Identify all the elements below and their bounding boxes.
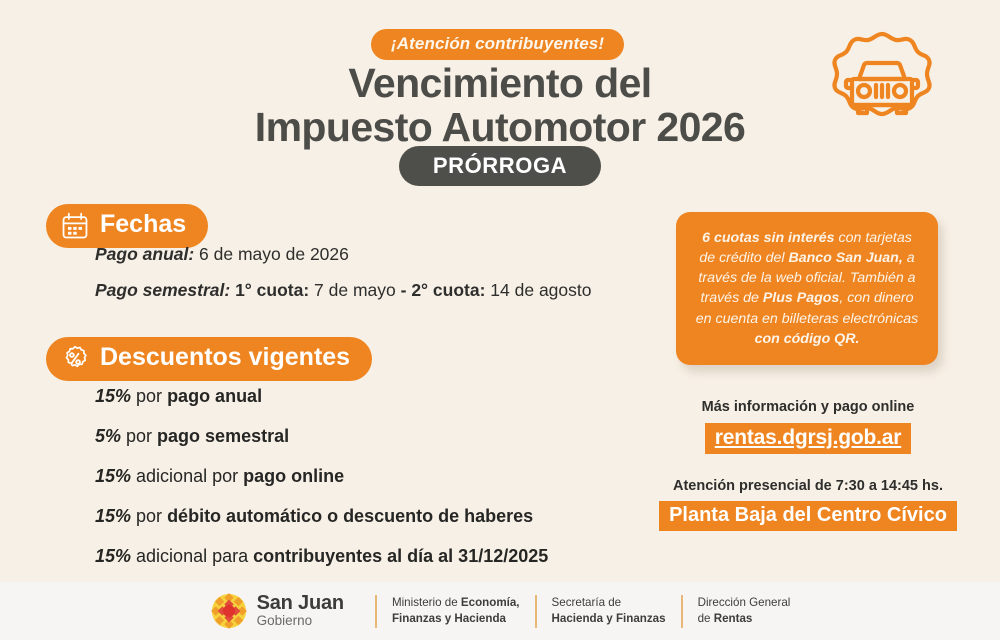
- cuota2-label: 2° cuota:: [411, 280, 485, 300]
- footer-bar: San Juan Gobierno Ministerio de Economía…: [0, 582, 1000, 640]
- descuento-item: 5% por pago semestral: [95, 427, 695, 445]
- descuento-percent: 15%: [95, 466, 131, 486]
- descuento-mid: adicional para: [131, 546, 253, 566]
- descuento-bold: pago semestral: [157, 426, 289, 446]
- descuento-mid: por: [131, 506, 167, 526]
- fecha-row-semestral: Pago semestral: 1° cuota: 7 de mayo - 2°…: [95, 282, 655, 300]
- descuento-percent: 5%: [95, 426, 121, 446]
- descuento-percent: 15%: [95, 546, 131, 566]
- status-badge: PRÓRROGA: [399, 146, 601, 186]
- descuento-bold: pago anual: [167, 386, 262, 406]
- descuento-bold: contribuyentes al día al 31/12/2025: [253, 546, 548, 566]
- calendar-icon: [60, 211, 90, 241]
- contact-block: Más información y pago online rentas.dgr…: [658, 400, 958, 531]
- car-front-badge-icon: [812, 22, 952, 162]
- payment-info-card: 6 cuotas sin interés con tarjetas de cré…: [676, 212, 938, 365]
- descuento-mid: adicional por: [131, 466, 243, 486]
- footer-item-line2-normal: de: [698, 612, 714, 625]
- info-qr-bold: con código QR.: [755, 331, 860, 347]
- footer-item-secretaria: Secretaría de Hacienda y Finanzas: [552, 595, 666, 627]
- fecha-anual-value: 6 de mayo de 2026: [194, 244, 349, 264]
- footer-divider: [375, 595, 377, 628]
- cuota-separator: -: [401, 280, 412, 300]
- info-cuotas-bold: 6 cuotas sin interés: [702, 230, 834, 246]
- descuento-item: 15% adicional para contribuyentes al día…: [95, 547, 695, 565]
- info-pluspagos-bold: Plus Pagos: [763, 290, 839, 306]
- footer-item-line2-bold: Rentas: [714, 612, 753, 625]
- section-pill-fechas: Fechas: [46, 204, 208, 248]
- descuento-item: 15% por pago anual: [95, 387, 695, 405]
- office-location-chip: Planta Baja del Centro Cívico: [659, 501, 957, 531]
- section-label-fechas: Fechas: [100, 212, 186, 240]
- descuento-percent: 15%: [95, 386, 131, 406]
- footer-item-line2-bold: Hacienda y Finanzas: [552, 612, 666, 625]
- footer-brand-line1: San Juan: [257, 593, 344, 614]
- footer-item-line1-normal: Secretaría de: [552, 596, 622, 609]
- section-pill-descuentos: Descuentos vigentes: [46, 337, 372, 381]
- rentas-website-link[interactable]: rentas.dgrsj.gob.ar: [705, 423, 911, 454]
- footer-divider: [535, 595, 537, 628]
- descuento-bold: débito automático o descuento de haberes: [167, 506, 533, 526]
- footer-item-line1-normal: Dirección General: [698, 596, 791, 609]
- footer-item-ministerio: Ministerio de Economía, Finanzas y Hacie…: [392, 595, 520, 627]
- hours-caption: Atención presencial de 7:30 a 14:45 hs.: [658, 479, 958, 494]
- percent-badge-icon: [60, 344, 90, 374]
- online-caption: Más información y pago online: [658, 400, 958, 415]
- descuento-percent: 15%: [95, 506, 131, 526]
- cuota1-label: 1° cuota:: [230, 280, 309, 300]
- descuentos-list: 15% por pago anual 5% por pago semestral…: [95, 387, 695, 587]
- footer-brand-line2: Gobierno: [257, 614, 344, 628]
- fecha-semestral-label: Pago semestral:: [95, 280, 230, 300]
- info-banco-bold: Banco San Juan,: [788, 250, 902, 266]
- cuota1-value: 7 de mayo: [309, 280, 400, 300]
- footer-divider: [681, 595, 683, 628]
- descuento-bold: pago online: [243, 466, 344, 486]
- footer-brand: San Juan Gobierno: [257, 593, 344, 628]
- fecha-anual-label: Pago anual:: [95, 244, 194, 264]
- section-label-descuentos: Descuentos vigentes: [100, 345, 350, 373]
- infographic-root: ¡Atención contribuyentes! Vencimiento de…: [0, 0, 1000, 640]
- san-juan-sun-logo-icon: [210, 592, 248, 630]
- attention-pill: ¡Atención contribuyentes!: [371, 29, 624, 60]
- descuento-item: 15% por débito automático o descuento de…: [95, 507, 695, 525]
- footer-item-line1-bold: Economía,: [461, 596, 520, 609]
- fechas-list: Pago anual: 6 de mayo de 2026 Pago semes…: [95, 246, 655, 317]
- footer-item-line2-bold: Finanzas y Hacienda: [392, 612, 506, 625]
- descuento-mid: por: [121, 426, 157, 446]
- footer-item-line1-normal: Ministerio de: [392, 596, 461, 609]
- fecha-row-anual: Pago anual: 6 de mayo de 2026: [95, 246, 655, 264]
- descuento-mid: por: [131, 386, 167, 406]
- descuento-item: 15% adicional por pago online: [95, 467, 695, 485]
- cuota2-value: 14 de agosto: [485, 280, 591, 300]
- footer-item-direccion: Dirección General de Rentas: [698, 595, 791, 627]
